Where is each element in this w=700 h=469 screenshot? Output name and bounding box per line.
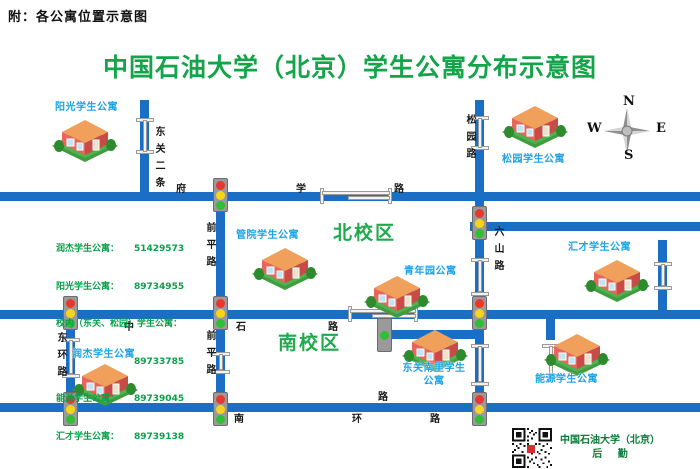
- contact-name-oncampus: 校内（东关、松园）学生公寓：: [56, 319, 182, 329]
- contact-row-oncampus-phone: 89733785: [56, 356, 184, 369]
- street-label-qianping-south: 前平路: [201, 330, 217, 381]
- traffic-light-red: [475, 209, 484, 218]
- traffic-light-qianping-nanhuan: [213, 392, 228, 426]
- traffic-light-red: [475, 395, 484, 404]
- footer-org: 中国石油大学（北京）: [560, 435, 660, 446]
- overpass-qianping-span: [219, 354, 223, 370]
- contact-name-sunshine: 阳光学生公寓：: [56, 281, 134, 294]
- contact-phone-huicai: 89739138: [134, 432, 184, 442]
- street-label-zhongshi-2: 石: [236, 318, 246, 333]
- traffic-light-yellow: [475, 405, 484, 414]
- traffic-light-green: [216, 201, 225, 210]
- traffic-light-green: [216, 319, 225, 328]
- traffic-light-green: [216, 415, 225, 424]
- footer-logo: 中国石油大学（北京） 后 勤: [512, 428, 660, 468]
- street-label-fuxue-2: 学: [296, 180, 306, 195]
- street-label-liushan: 六山路: [489, 226, 505, 277]
- traffic-light-yellow: [216, 309, 225, 318]
- traffic-light-dongguan-connector: [377, 318, 392, 352]
- apartment-label-sunshine: 阳光学生公寓: [55, 98, 118, 113]
- overpass-right-spur-2: [654, 286, 672, 290]
- traffic-light-yellow: [216, 191, 225, 200]
- zone-label-north-campus: 北校区: [333, 218, 396, 245]
- contact-name-runjie: 润杰学生公寓：: [56, 243, 134, 256]
- contacts-list: 润杰学生公寓：51429573 阳光学生公寓：89734955 校内（东关、松园…: [56, 218, 184, 468]
- qr-code-icon: [512, 428, 552, 468]
- apartment-label-guanyuan: 管院学生公寓: [236, 226, 299, 241]
- footer-text: 中国石油大学（北京） 后 勤: [560, 434, 660, 462]
- traffic-light-fuxue-qianping: [213, 178, 228, 212]
- contact-name-nengyuan: 能源学生公寓：: [56, 393, 134, 406]
- street-label-nanhuan-3: 路: [430, 410, 440, 425]
- traffic-light-red: [216, 181, 225, 190]
- contact-row-nengyuan: 能源学生公寓：89739045: [56, 393, 184, 406]
- apartment-label-huicai: 汇才学生公寓: [568, 238, 631, 253]
- overpass-dongguan-erdiao-span: [143, 120, 147, 152]
- house-icon-songyuan: [498, 98, 572, 150]
- traffic-light-yellow: [475, 219, 484, 228]
- contact-row-huicai: 汇才学生公寓：89739138: [56, 431, 184, 444]
- footer-dept: 后 勤: [560, 448, 660, 462]
- traffic-light-zhongshi-qianping: [213, 296, 228, 330]
- overpass-liushan-span-2: [478, 346, 482, 382]
- contact-phone-nengyuan: 89739045: [134, 394, 184, 404]
- street-label-fuxue-1: 府: [176, 180, 186, 195]
- house-icon-sunshine: [48, 112, 122, 164]
- apartment-label-qingnianyuan: 青年园公寓: [404, 262, 457, 277]
- street-label-dongguan-connector: 路: [378, 388, 388, 403]
- street-label-songyuan-road: 松园路: [461, 114, 477, 165]
- contact-row-runjie: 润杰学生公寓：51429573: [56, 243, 184, 256]
- contact-phone-runjie: 51429573: [134, 244, 184, 254]
- street-label-nanhuan-2: 环: [352, 410, 362, 425]
- overpass-right-spur-span: [661, 264, 665, 286]
- traffic-light-yellow: [475, 309, 484, 318]
- compass-east: E: [656, 121, 666, 136]
- traffic-light-yellow: [216, 405, 225, 414]
- zone-label-south-campus: 南校区: [278, 328, 341, 355]
- compass-south: S: [624, 148, 633, 163]
- figure-caption: 附：各公寓位置示意图: [8, 6, 148, 25]
- overpass-liushan-span: [478, 260, 482, 292]
- compass-rose: N S W E: [586, 96, 668, 168]
- house-icon-guanyuan: [248, 240, 322, 292]
- street-label-fuxue-3: 路: [394, 180, 404, 195]
- apartment-label-songyuan: 松园学生公寓: [502, 150, 565, 165]
- street-label-dongguan-erdiao: 东关二条: [150, 126, 166, 194]
- traffic-light-songyuan: [472, 206, 487, 240]
- compass-north: N: [623, 94, 635, 109]
- page-title: 中国石油大学（北京）学生公寓分布示意图: [0, 48, 700, 84]
- contact-phone-sunshine: 89734955: [134, 282, 184, 292]
- traffic-light-green: [475, 229, 484, 238]
- traffic-light-red: [216, 395, 225, 404]
- traffic-light-green: [475, 415, 484, 424]
- contact-row-sunshine: 阳光学生公寓：89734955: [56, 281, 184, 294]
- contact-row-oncampus: 校内（东关、松园）学生公寓：: [56, 318, 184, 331]
- street-label-nanhuan-1: 南: [234, 410, 244, 425]
- overpass-songyuan-span: [478, 118, 482, 148]
- compass-west: W: [587, 121, 602, 136]
- house-icon-huicai: [580, 252, 654, 304]
- traffic-light-red: [475, 299, 484, 308]
- traffic-light-green: [380, 331, 389, 340]
- contact-phone-oncampus: 89733785: [134, 357, 184, 367]
- street-label-qianping-north: 前平路: [201, 222, 217, 273]
- apartment-label-nengyuan: 能源学生公寓: [535, 370, 598, 385]
- overpass-liushan-4: [471, 382, 489, 386]
- traffic-light-zhongshi-liushan: [472, 296, 487, 330]
- overpass-fuxue-span: [322, 191, 390, 195]
- overpass-fuxue-span2: [348, 196, 390, 200]
- apartment-label-dongguannanli: 东关南里学生公寓: [398, 362, 470, 388]
- campus-apartment-map: 附：各公寓位置示意图 中国石油大学（北京）学生公寓分布示意图: [0, 0, 700, 469]
- traffic-light-liushan-nanhuan: [472, 392, 487, 426]
- traffic-light-green: [475, 319, 484, 328]
- contact-name-huicai: 汇才学生公寓：: [56, 431, 134, 444]
- traffic-light-red: [216, 299, 225, 308]
